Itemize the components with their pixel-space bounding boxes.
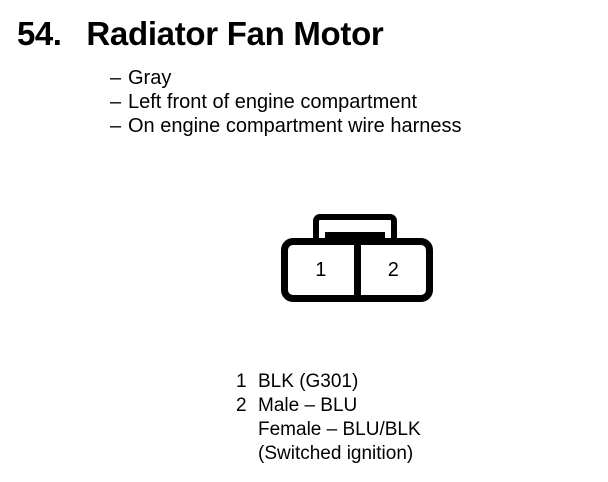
connector-cavity-1: 1 xyxy=(288,245,354,295)
dash-bullet-icon: – xyxy=(110,90,128,114)
connector-diagram: 1 2 xyxy=(281,214,433,302)
list-item: – Left front of engine compartment xyxy=(110,90,462,114)
dash-bullet-icon: – xyxy=(110,114,128,138)
connector-cavity-2: 2 xyxy=(361,245,427,295)
legend-row: 1 BLK (G301) xyxy=(236,370,421,394)
connector-pin-number-1: 1 xyxy=(315,260,326,280)
legend-pin-description: BLK (G301) xyxy=(258,370,421,394)
connector-pin-number-2: 2 xyxy=(388,260,399,280)
page-title: Radiator Fan Motor xyxy=(86,17,383,50)
legend-pin-number: 2 xyxy=(236,394,258,418)
legend-pin-description: (Switched ignition) xyxy=(258,442,421,466)
page-heading: 54. Radiator Fan Motor xyxy=(17,17,383,50)
description-text: Left front of engine compartment xyxy=(128,90,417,114)
description-list: – Gray – Left front of engine compartmen… xyxy=(110,66,462,138)
legend-row: Female – BLU/BLK xyxy=(236,418,421,442)
legend-pin-number xyxy=(236,418,258,442)
legend-pin-description: Male – BLU xyxy=(258,394,421,418)
legend-pin-description: Female – BLU/BLK xyxy=(258,418,421,442)
pin-legend: 1 BLK (G301) 2 Male – BLU Female – BLU/B… xyxy=(236,370,421,466)
legend-pin-number: 1 xyxy=(236,370,258,394)
connector-cavity-divider xyxy=(354,245,361,295)
list-item: – On engine compartment wire harness xyxy=(110,114,462,138)
dash-bullet-icon: – xyxy=(110,66,128,90)
description-text: Gray xyxy=(128,66,171,90)
list-item: – Gray xyxy=(110,66,462,90)
legend-row: 2 Male – BLU xyxy=(236,394,421,418)
legend-pin-number xyxy=(236,442,258,466)
entry-number: 54. xyxy=(17,17,61,50)
legend-row: (Switched ignition) xyxy=(236,442,421,466)
connector-body: 1 2 xyxy=(281,238,433,302)
description-text: On engine compartment wire harness xyxy=(128,114,462,138)
